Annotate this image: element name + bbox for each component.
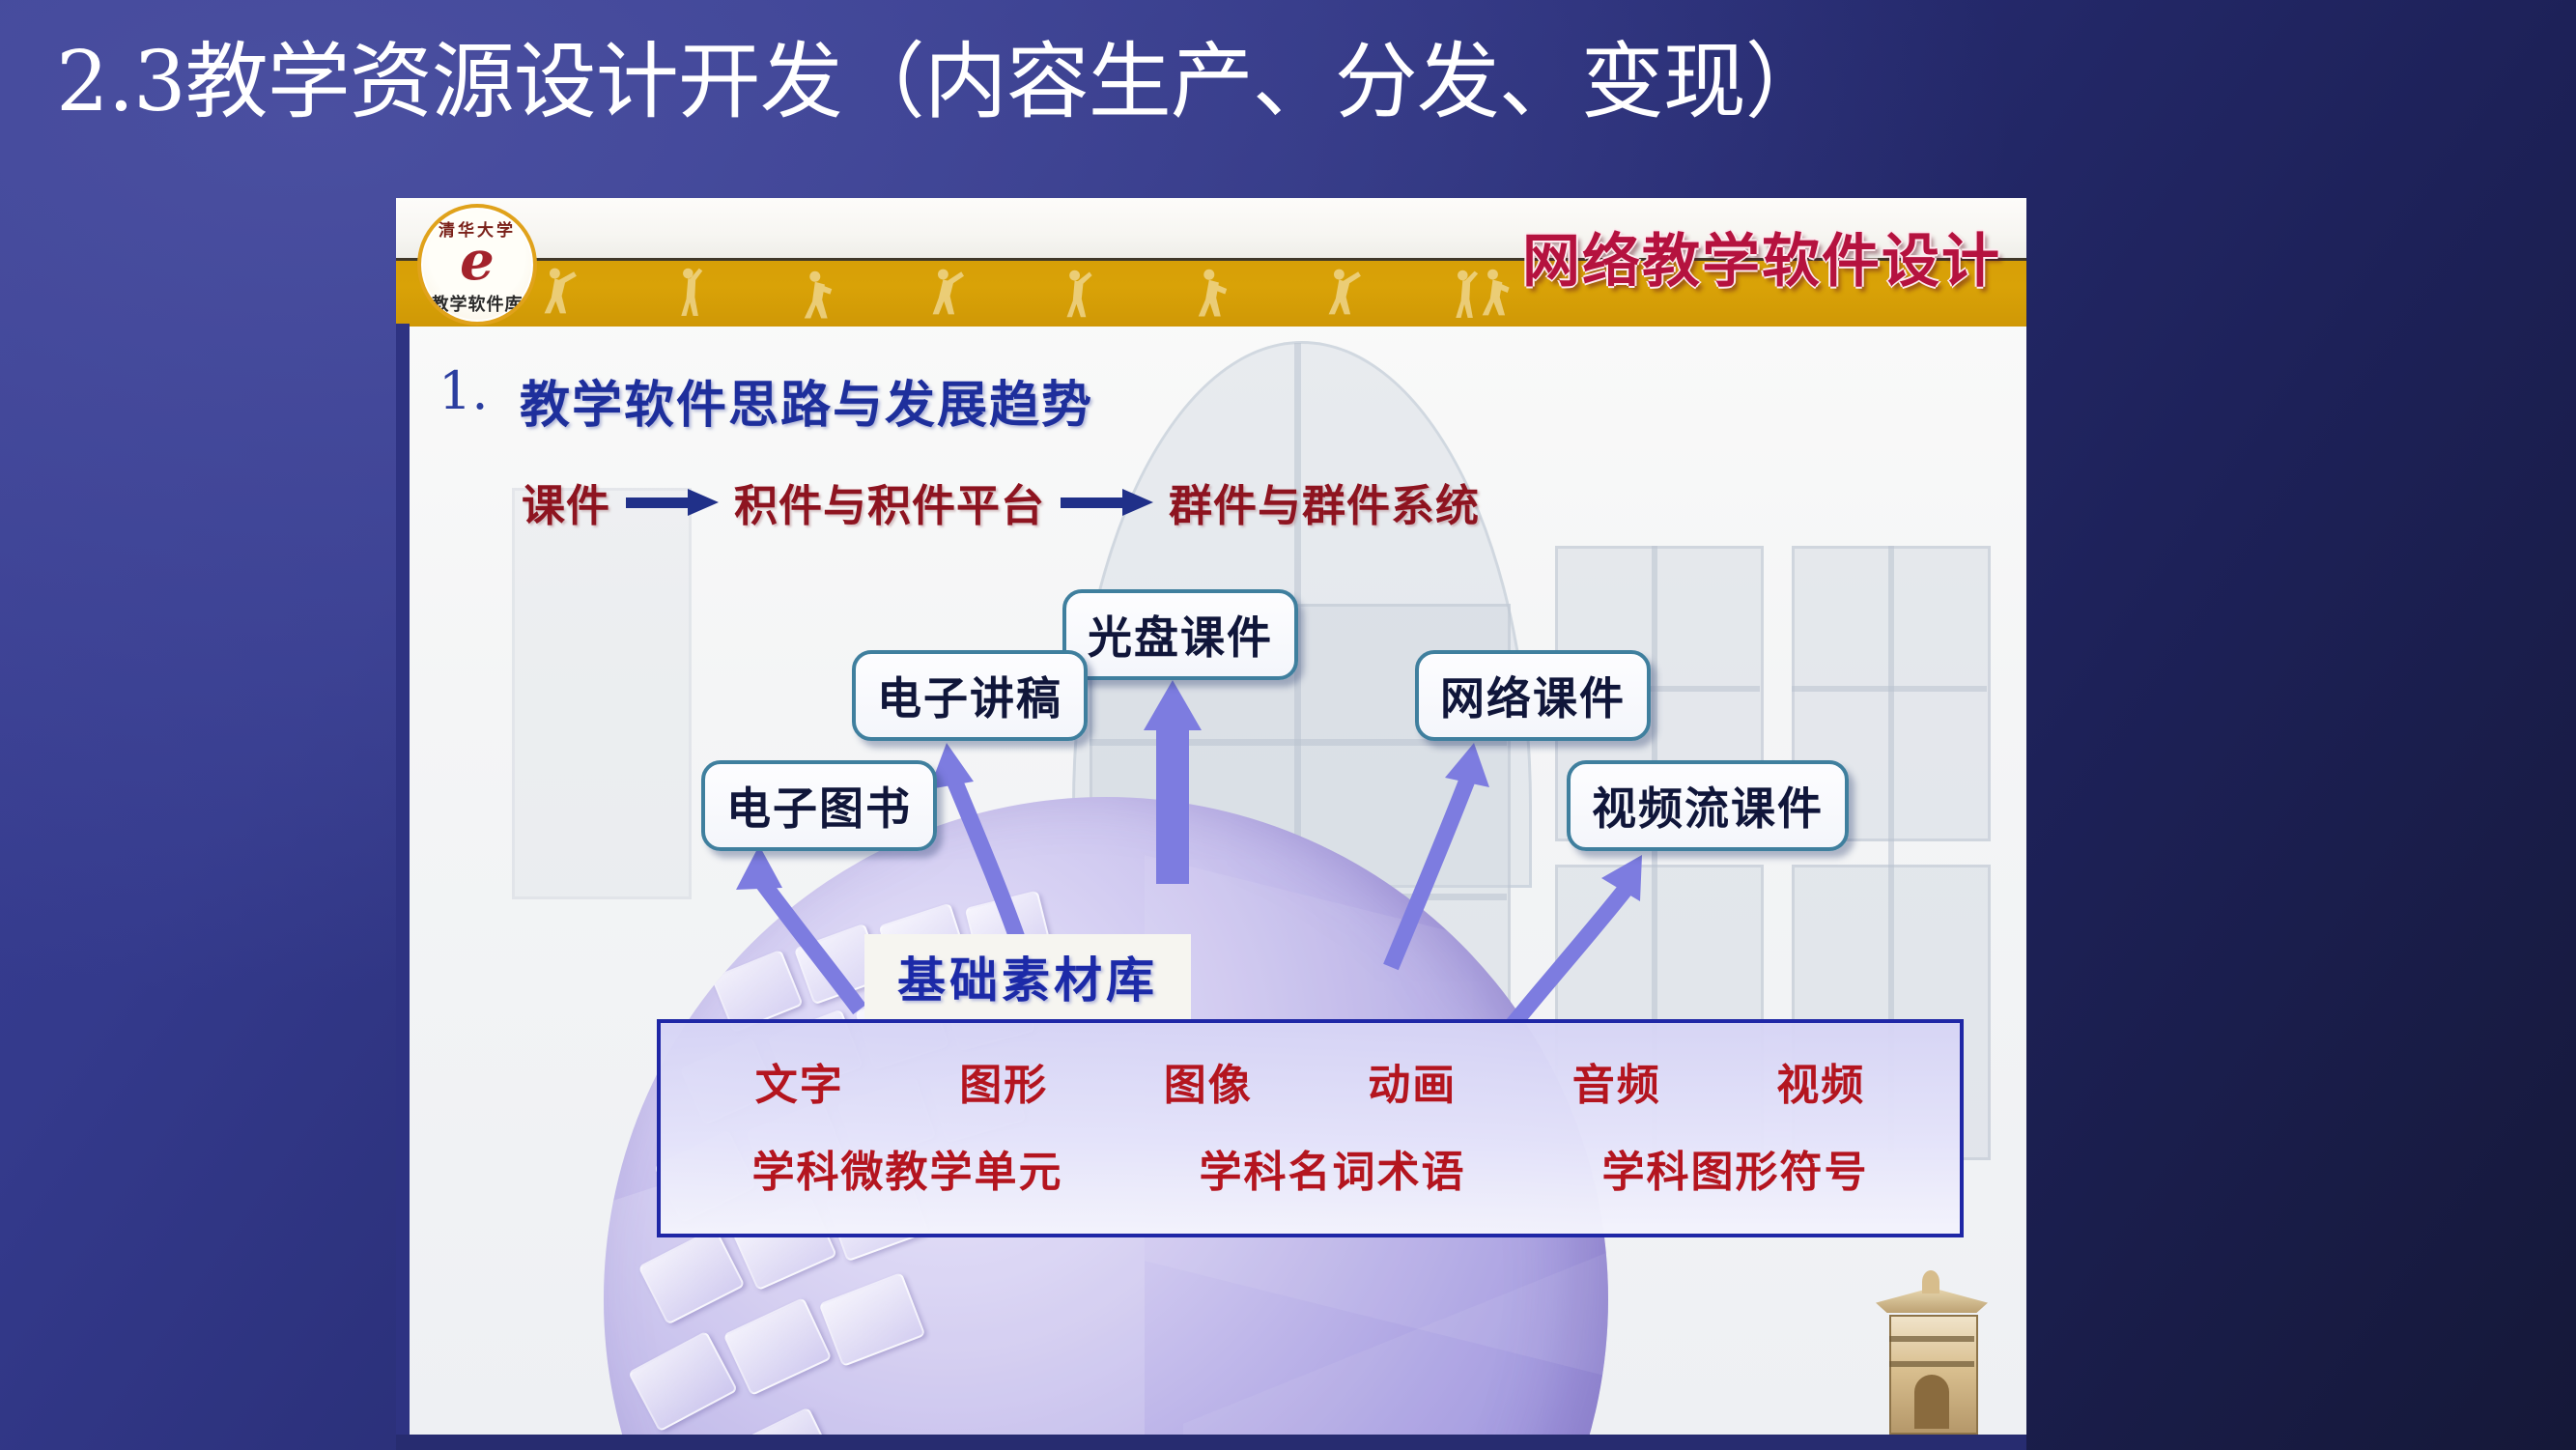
pagoda-statue-graphic	[1872, 1270, 1992, 1435]
evolution-flow: 课件 积件与积件平台 群件与群件系统	[522, 470, 1480, 533]
page-title: 2.3教学资源设计开发（内容生产、分发、变现）	[56, 39, 2548, 126]
library-item-graphic: 图形	[959, 1050, 1048, 1112]
embedded-slide-image: 清华大学 e 教学软件库 网络教学软件设计 1. 教学软件思路与发展趋势 课件 …	[396, 198, 2026, 1450]
arrow-to-disc-courseware-icon	[1130, 676, 1246, 898]
library-title: 基础素材库	[864, 934, 1191, 1019]
flow-stage-2: 积件与积件平台	[734, 470, 1045, 533]
library-panel: 文字 图形 图像 动画 音频 视频 学科微教学单元 学科名词术语 学科图形符号	[657, 1019, 1964, 1237]
bottom-accent-bar	[396, 1435, 2026, 1450]
logo-library-name: 教学软件库	[421, 291, 533, 316]
logo-e-mark: e	[421, 234, 533, 288]
flow-stage-3: 群件与群件系统	[1169, 470, 1480, 533]
library-discipline-assets-row: 学科微教学单元 学科名词术语 学科图形符号	[661, 1137, 1960, 1199]
library-item-text: 文字	[755, 1050, 844, 1112]
section-number: 1.	[439, 360, 489, 421]
arrow-to-streaming-courseware-icon	[1497, 843, 1681, 1046]
arrow-to-e-book-icon	[715, 836, 879, 1029]
flow-arrow-2-icon	[1061, 492, 1153, 513]
presentation-slide: 2.3教学资源设计开发（内容生产、分发、变现）	[0, 0, 2576, 1450]
library-item-animation: 动画	[1368, 1050, 1457, 1112]
node-disc-courseware[interactable]: 光盘课件	[1062, 589, 1298, 680]
node-e-book[interactable]: 电子图书	[701, 760, 937, 851]
node-streaming-courseware[interactable]: 视频流课件	[1567, 760, 1849, 851]
left-accent-bar	[396, 324, 410, 1450]
library-item-video: 视频	[1776, 1050, 1865, 1112]
library-item-terminology: 学科名词术语	[1200, 1137, 1466, 1199]
library-item-audio: 音频	[1572, 1050, 1661, 1112]
section-heading: 教学软件思路与发展趋势	[520, 364, 1093, 437]
library-item-graphic-symbols: 学科图形符号	[1602, 1137, 1869, 1199]
flow-arrow-1-icon	[626, 492, 719, 513]
library-item-image: 图像	[1164, 1050, 1253, 1112]
tsinghua-courseware-library-logo-icon: 清华大学 e 教学软件库	[417, 204, 537, 326]
node-web-courseware[interactable]: 网络课件	[1415, 650, 1651, 741]
library-item-micro-teaching-unit: 学科微教学单元	[752, 1137, 1063, 1199]
node-e-lecture-notes[interactable]: 电子讲稿	[852, 650, 1088, 741]
flow-stage-1: 课件	[522, 470, 610, 533]
library-media-types-row: 文字 图形 图像 动画 音频 视频	[661, 1050, 1960, 1112]
banner-title: 网络教学软件设计	[1522, 233, 2001, 291]
